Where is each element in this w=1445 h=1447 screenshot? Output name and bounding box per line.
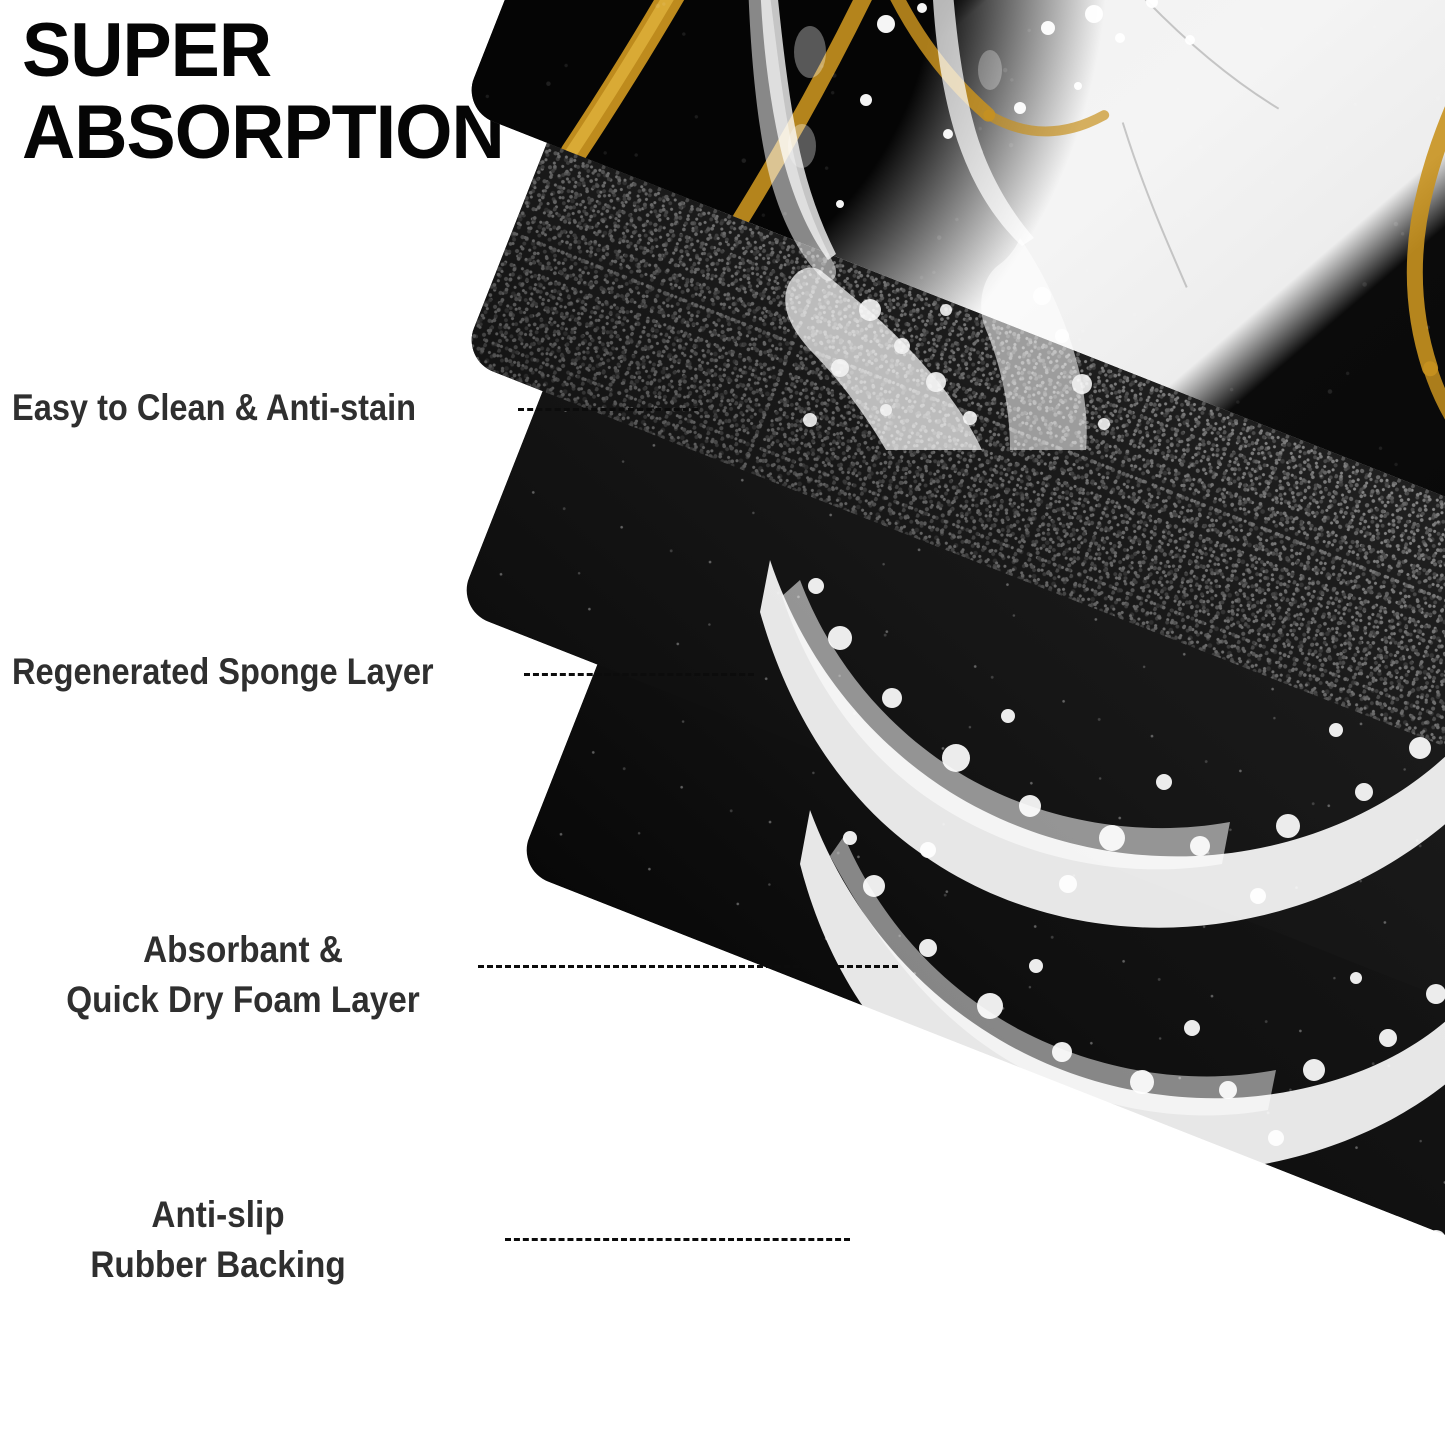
feature-label-anti-slip-rubber: Anti-slip Rubber Backing xyxy=(47,1190,389,1290)
feature-label-easy-to-clean: Easy to Clean & Anti-stain xyxy=(12,386,416,430)
leader-line-anti-slip-rubber xyxy=(505,1238,850,1241)
leader-line-easy-to-clean xyxy=(518,408,698,411)
leader-line-absorbant-foam xyxy=(478,965,898,968)
feature-label-regenerated-sponge: Regenerated Sponge Layer xyxy=(12,650,434,694)
feature-label-absorbant-foam: Absorbant & Quick Dry Foam Layer xyxy=(50,925,437,1025)
leader-line-regenerated-sponge xyxy=(524,673,754,676)
product-infographic: SUPER ABSORPTION Easy to Clean & Anti-st… xyxy=(0,0,1445,1447)
